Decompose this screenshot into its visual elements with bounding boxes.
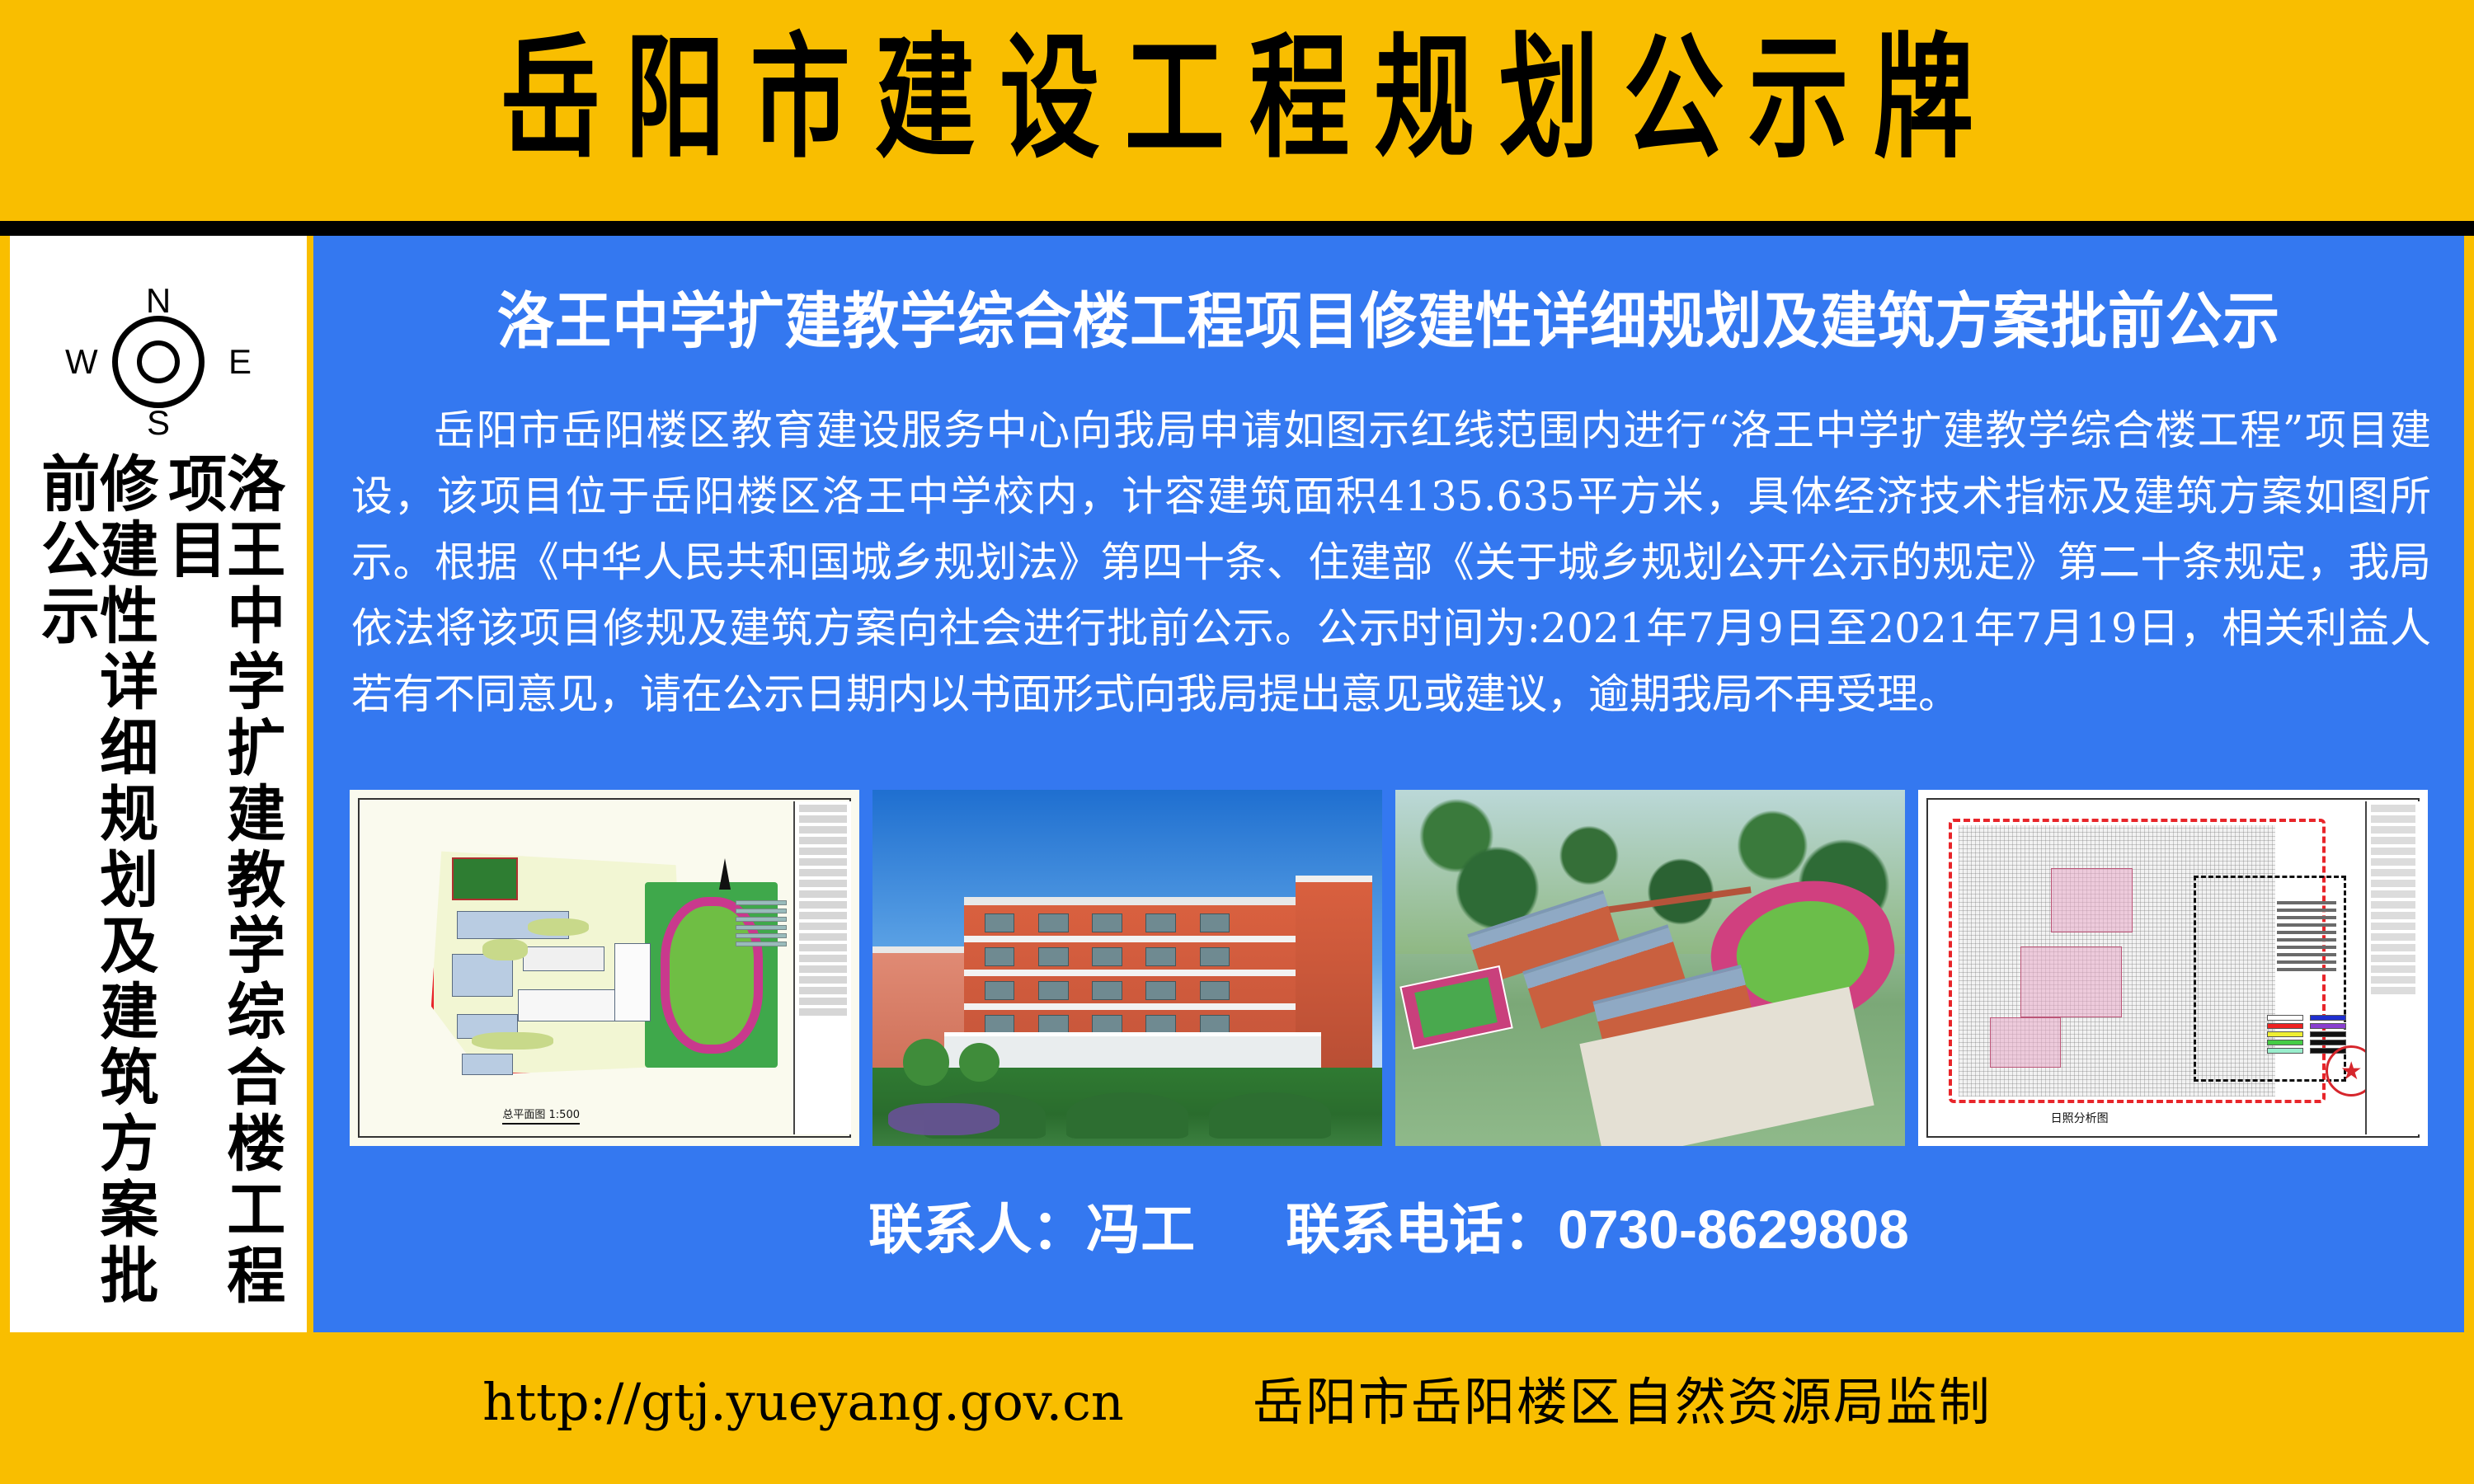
footer-organization: 岳阳市岳阳楼区自然资源局监制: [1253, 1360, 1992, 1435]
image-site-plan[interactable]: 总平面图 1:500: [350, 790, 859, 1146]
image-building-rendering-front[interactable]: [872, 790, 1382, 1146]
compass-rose-icon: N S W E: [63, 284, 253, 440]
sidebar-vertical-line-1: 洛王中学扩建教学综合楼工程项目: [163, 452, 280, 1326]
sidebar-vertical-line-2: 修建性详细规划及建筑方案批前公示: [36, 452, 153, 1326]
compass-east-label: E: [228, 345, 252, 379]
sunlight-analysis-drawing: ★ 日照分析图: [1918, 790, 2428, 1146]
sunlight-analysis-notes: [2277, 897, 2336, 971]
board-body: N S W E 洛王中学扩建教学综合楼工程项目 修建性详细规划及建筑方案批前公示…: [0, 236, 2474, 1332]
site-plan-greenery: [472, 1032, 553, 1050]
building-front-rendering: [872, 790, 1382, 1146]
compass-inner-ring: [137, 340, 180, 383]
sidebar-vertical-title: 洛王中学扩建教学综合楼工程项目 修建性详细规划及建筑方案批前公示: [10, 452, 307, 1326]
site-plan-building: [518, 989, 620, 1021]
rendering-shrub: [1209, 1092, 1331, 1139]
contact-line: 联系人：冯工联系电话：0730-8629808: [313, 1196, 2464, 1262]
site-plan-title-block: [793, 801, 851, 1134]
site-plan-greenery: [482, 939, 529, 960]
notice-panel: 洛王中学扩建教学综合楼工程项目修建性详细规划及建筑方案批前公示 岳阳市岳阳楼区教…: [313, 236, 2464, 1332]
board-title: 岳阳市建设工程规划公示牌: [148, 17, 2326, 181]
image-campus-aerial-rendering[interactable]: [1395, 790, 1905, 1146]
notice-title: 洛王中学扩建教学综合楼工程项目修建性详细规划及建筑方案批前公示: [388, 287, 2388, 356]
site-plan-basketball-courts: [452, 857, 518, 900]
campus-aerial-rendering: [1395, 790, 1905, 1146]
compass-south-label: S: [147, 406, 170, 440]
contact-person-value: 冯工: [1086, 1199, 1195, 1260]
aerial-basketball-courts: [1400, 965, 1513, 1050]
image-sunlight-analysis[interactable]: ★ 日照分析图: [1918, 790, 2428, 1146]
notice-body-text: 岳阳市岳阳楼区教育建设服务中心向我局申请如图示红线范围内进行“洛王中学扩建教学综…: [351, 397, 2431, 727]
contact-person-label: 联系人：: [868, 1199, 1086, 1260]
sunlight-analysis-legend: [2267, 1015, 2346, 1054]
drawing-image-strip: 总平面图 1:500: [350, 790, 2428, 1146]
sunlight-shadow-zone: [2020, 946, 2123, 1017]
contact-phone-label: 联系电话：: [1286, 1199, 1558, 1260]
site-plan-building: [614, 943, 650, 1021]
drawing-title-block: [2365, 801, 2420, 1134]
sunlight-analysis-caption: 日照分析图: [2051, 1110, 2109, 1126]
compass-west-label: W: [65, 345, 98, 379]
site-plan-building: [462, 1054, 513, 1075]
sidebar-panel: N S W E 洛王中学扩建教学综合楼工程项目 修建性详细规划及建筑方案批前公示: [10, 236, 307, 1332]
rendering-shrub: [1066, 1092, 1188, 1139]
footer-banner: http://gtj.yueyang.gov.cn 岳阳市岳阳楼区自然资源局监制: [0, 1332, 2474, 1484]
header-divider-rule: [0, 221, 2474, 236]
site-plan-drawing: 总平面图 1:500: [350, 790, 859, 1146]
sunlight-shadow-zone: [1990, 1017, 2062, 1067]
footer-website-url[interactable]: http://gtj.yueyang.gov.cn: [482, 1372, 1124, 1432]
contact-phone-value: 0730-8629808: [1558, 1199, 1909, 1260]
header-banner: 岳阳市建设工程规划公示牌: [0, 0, 2474, 221]
site-plan-legend: [736, 897, 787, 955]
site-plan-greenery: [528, 918, 589, 937]
rendering-flower-bed: [888, 1103, 1000, 1135]
site-plan-building: [523, 946, 604, 971]
site-plan-caption: 总平面图 1:500: [502, 1106, 580, 1125]
site-plan-north-arrow-icon: [714, 847, 736, 896]
rendering-tree: [903, 1039, 949, 1085]
planning-publicity-board: 岳阳市建设工程规划公示牌 N S W E 洛王中学扩建教学综合楼工程项目 修建性…: [0, 0, 2474, 1484]
compass-north-label: N: [146, 284, 171, 318]
sunlight-shadow-zone: [2051, 868, 2133, 932]
